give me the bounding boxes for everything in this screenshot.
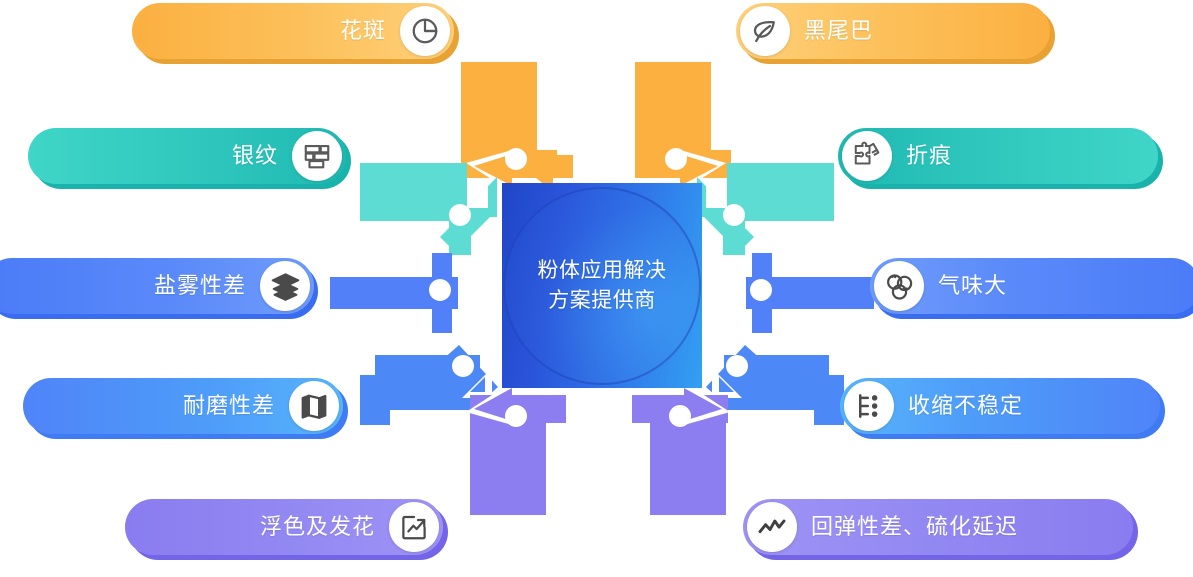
node-label-n10: 回弹性差、硫化延迟	[811, 516, 1018, 538]
line-chart-icon	[747, 502, 797, 552]
connector-n3	[360, 163, 500, 255]
node-pill-n1[interactable]: 花斑	[132, 3, 454, 59]
node-pill-n6[interactable]: 气味大	[870, 258, 1193, 314]
connector-n2	[635, 62, 731, 192]
node-label-n8: 收缩不稳定	[908, 395, 1023, 417]
connector-n7	[360, 345, 498, 425]
puzzle-icon	[842, 131, 892, 181]
node-pill-n5[interactable]: 盐雾性差	[0, 258, 314, 314]
node-label-n1: 花斑	[340, 20, 386, 42]
layers-icon	[260, 261, 310, 311]
node-pill-n4[interactable]: 折痕	[838, 128, 1158, 184]
node-label-n2: 黑尾巴	[804, 20, 873, 42]
brick-wall-icon	[292, 131, 342, 181]
node-label-n7: 耐磨性差	[183, 395, 275, 417]
sitemap-icon	[844, 381, 894, 431]
connector-n9	[466, 382, 566, 515]
node-label-n4: 折痕	[906, 145, 952, 167]
connector-n6	[746, 253, 874, 333]
recycle-icon	[874, 261, 924, 311]
node-pill-n10[interactable]: 回弹性差、硫化延迟	[743, 499, 1133, 555]
node-label-n3: 银纹	[232, 145, 278, 167]
node-label-n6: 气味大	[938, 275, 1007, 297]
leaf-icon	[740, 6, 790, 56]
infographic-diagram: 粉体应用解决 方案提供商 花斑 黑尾巴 银纹	[0, 0, 1193, 577]
node-pill-n8[interactable]: 收缩不稳定	[840, 378, 1160, 434]
connector-n4	[697, 163, 834, 255]
map-book-icon	[289, 381, 339, 431]
node-pill-n2[interactable]: 黑尾巴	[736, 3, 1050, 59]
center-label: 粉体应用解决 方案提供商	[502, 256, 702, 316]
node-pill-n3[interactable]: 银纹	[28, 128, 346, 184]
trending-up-icon	[389, 502, 439, 552]
connector-n8	[706, 345, 844, 425]
node-pill-n7[interactable]: 耐磨性差	[23, 378, 343, 434]
node-pill-n9[interactable]: 浮色及发花	[125, 499, 443, 555]
center-node[interactable]: 粉体应用解决 方案提供商	[502, 183, 702, 388]
connector-n1	[461, 62, 573, 192]
node-label-n5: 盐雾性差	[154, 275, 246, 297]
node-label-n9: 浮色及发花	[260, 516, 375, 538]
connector-n5	[330, 253, 458, 333]
pie-chart-icon	[400, 6, 450, 56]
connector-n10	[632, 382, 730, 515]
